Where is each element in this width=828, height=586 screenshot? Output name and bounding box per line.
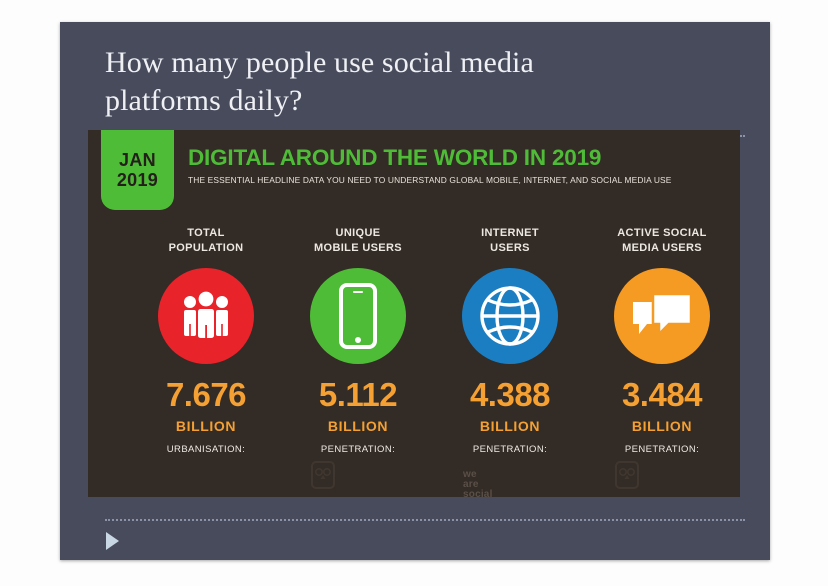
- infographic-subtitle: THE ESSENTIAL HEADLINE DATA YOU NEED TO …: [188, 175, 734, 185]
- badge-month: JAN: [119, 150, 156, 170]
- stat-label: INTERNET USERS: [481, 226, 539, 258]
- play-triangle-icon[interactable]: [106, 532, 119, 550]
- stat-unit: BILLION: [480, 418, 540, 434]
- presentation-slide: How many people use social media platfor…: [60, 22, 770, 560]
- stat-unit: BILLION: [176, 418, 236, 434]
- stat-column-unique-mobile-users: UNIQUE MOBILE USERS 5.112 BILLION PENETR…: [283, 220, 433, 455]
- infographic-headline: DIGITAL AROUND THE WORLD IN 2019: [188, 146, 734, 170]
- stat-metric-label: PENETRATION:: [625, 444, 699, 455]
- badge-year: 2019: [117, 170, 158, 190]
- speech-bubbles-icon: [614, 268, 710, 364]
- mobile-phone-icon: [310, 268, 406, 364]
- stat-value: 7.676: [166, 378, 246, 411]
- owl-logo-icon: [614, 460, 640, 490]
- footer-divider: [105, 519, 745, 521]
- date-badge: JAN 2019: [101, 130, 174, 210]
- owl-logo-icon: [310, 460, 336, 490]
- stat-column-active-social-media-users: ACTIVE SOCIAL MEDIA USERS 3.484 BILLION …: [587, 220, 737, 455]
- page-canvas: How many people use social media platfor…: [0, 0, 828, 586]
- stat-value: 4.388: [470, 378, 550, 411]
- stat-unit: BILLION: [632, 418, 692, 434]
- stat-metric-label: PENETRATION:: [321, 444, 395, 455]
- stat-label: TOTAL POPULATION: [169, 226, 244, 258]
- stat-metric-label: PENETRATION:: [473, 444, 547, 455]
- stat-label: UNIQUE MOBILE USERS: [314, 226, 402, 258]
- page-title: How many people use social media platfor…: [105, 44, 745, 121]
- stats-row: we are social we are socia TOTAL POPULAT…: [88, 220, 740, 497]
- stat-value: 5.112: [319, 378, 397, 411]
- title-text: How many people use social media platfor…: [105, 44, 745, 121]
- we-are-social-watermark: we are social: [463, 470, 493, 497]
- stat-label: ACTIVE SOCIAL MEDIA USERS: [617, 226, 707, 258]
- infographic-image: JAN 2019 DIGITAL AROUND THE WORLD IN 201…: [88, 130, 740, 497]
- globe-icon: [462, 268, 558, 364]
- stat-metric-label: URBANISATION:: [167, 444, 245, 455]
- stat-unit: BILLION: [328, 418, 388, 434]
- stat-column-total-population: TOTAL POPULATION: [131, 220, 281, 455]
- infographic-header: JAN 2019 DIGITAL AROUND THE WORLD IN 201…: [88, 130, 740, 220]
- people-group-icon: [158, 268, 254, 364]
- stat-value: 3.484: [622, 378, 702, 411]
- headline-block: DIGITAL AROUND THE WORLD IN 2019 THE ESS…: [188, 146, 734, 185]
- stat-column-internet-users: INTERNET USERS 4.388: [435, 220, 585, 455]
